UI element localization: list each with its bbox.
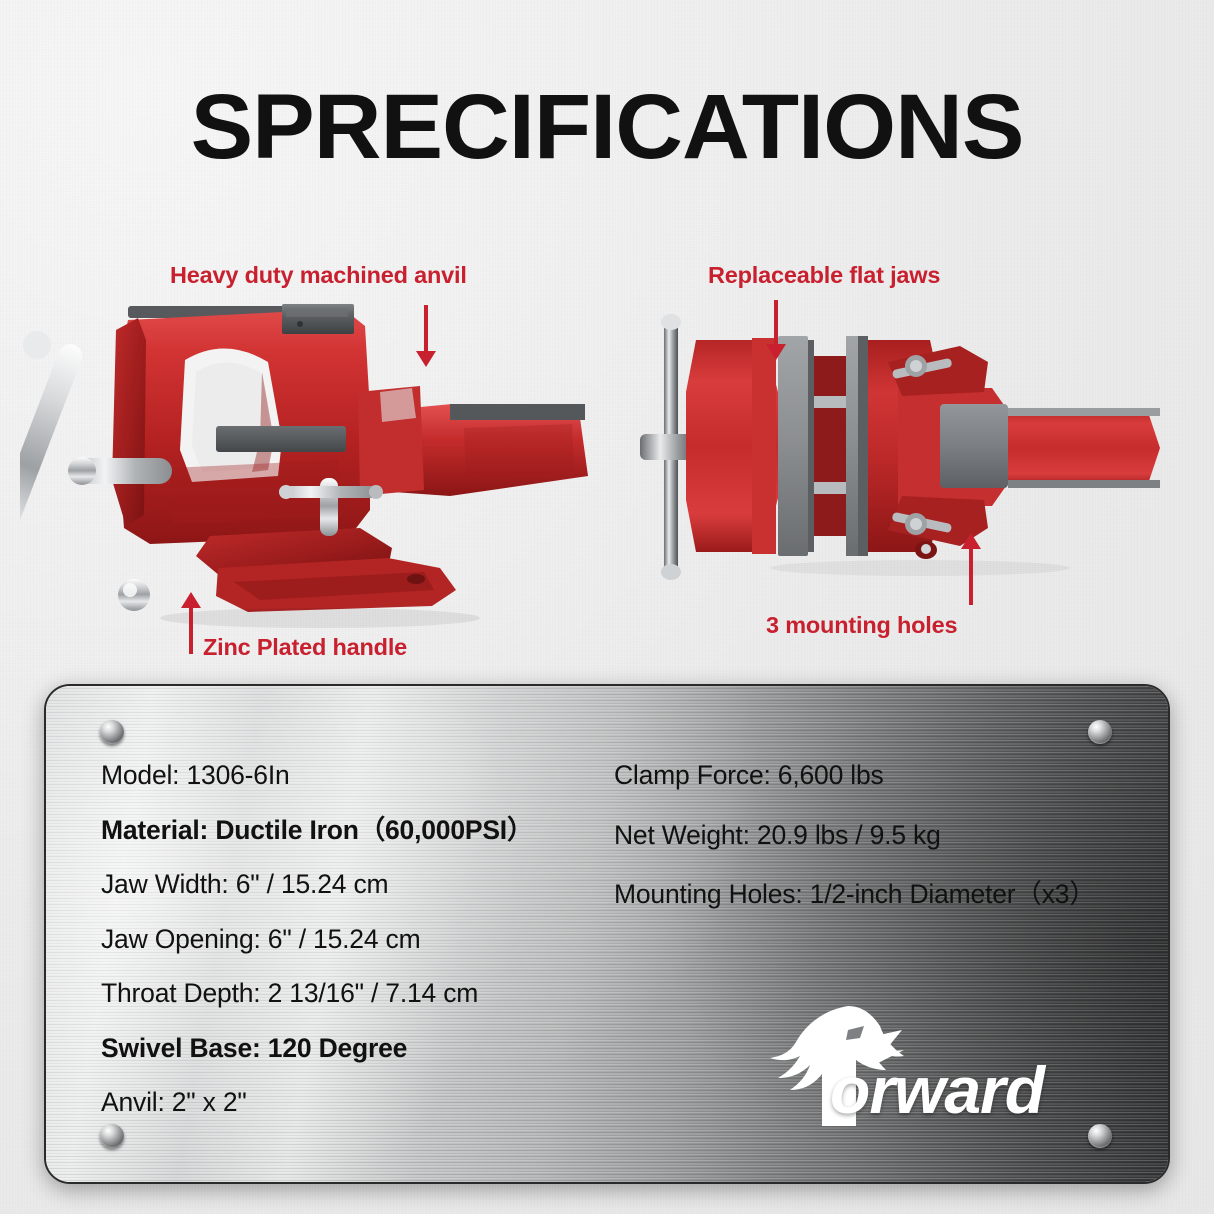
callout-arrow-down-icon [765,300,787,360]
spec-item-swivel-base: Swivel Base: 120 Degree [101,1035,621,1062]
spec-item-anvil: Anvil: 2" x 2" [101,1089,621,1116]
callout-arrow-up-icon [180,592,202,654]
vise-side-view-image [20,300,620,640]
callout-label-mounting-holes: 3 mounting holes [766,612,957,639]
spec-item-jaw-width: Jaw Width: 6" / 15.24 cm [101,871,621,898]
spec-sheet-page: SPRECIFICATIONS [0,0,1214,1214]
callout-label-heavy-duty-anvil: Heavy duty machined anvil [170,262,467,289]
callout-arrow-down-icon [415,305,437,367]
brand-wordmark: orward [830,1052,1044,1128]
spec-item-throat-depth: Throat Depth: 2 13/16" / 7.14 cm [101,980,621,1007]
spec-column-left: Model: 1306-6In Material: Ductile Iron（6… [101,762,621,1144]
callout-label-zinc-plated-handle: Zinc Plated handle [203,634,407,661]
vise-top-view-image [640,300,1185,590]
spec-item-model: Model: 1306-6In [101,762,621,789]
callout-arrow-up-icon [960,533,982,605]
spec-item-material: Material: Ductile Iron（60,000PSI） [101,817,621,844]
page-title: SPRECIFICATIONS [0,75,1214,180]
spec-item-jaw-opening: Jaw Opening: 6" / 15.24 cm [101,926,621,953]
spec-item-clamp-force: Clamp Force: 6,600 lbs [614,762,1159,789]
callout-label-replaceable-jaws: Replaceable flat jaws [708,262,940,289]
spec-item-net-weight: Net Weight: 20.9 lbs / 9.5 kg [614,822,1159,849]
brand-logo: orward [752,1000,1102,1128]
spec-column-right: Clamp Force: 6,600 lbs Net Weight: 20.9 … [614,762,1159,941]
spec-item-mounting-holes: Mounting Holes: 1/2-inch Diameter（x3） [614,881,1159,908]
